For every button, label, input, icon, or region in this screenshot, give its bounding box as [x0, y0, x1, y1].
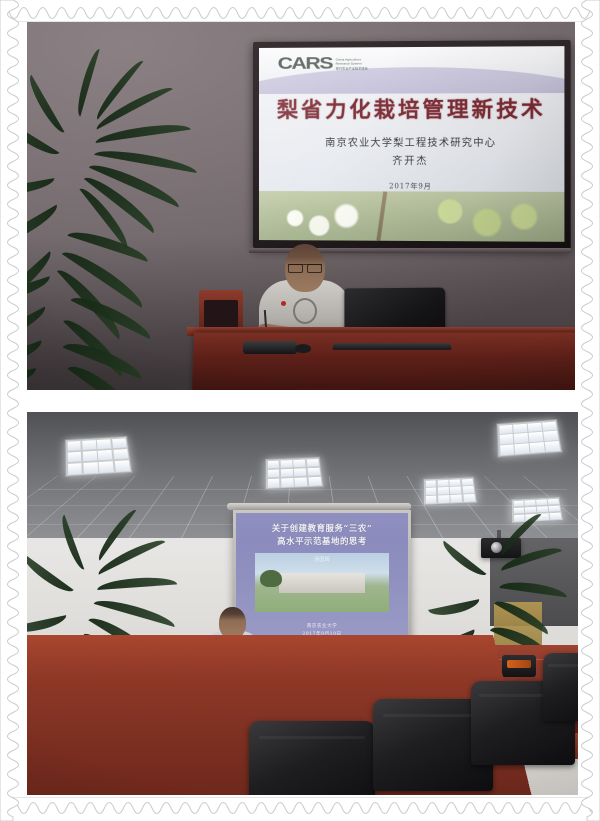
- scalloped-border-top: [0, 0, 600, 22]
- projection-screen-surface: CARS China Agriculture Research System 现…: [259, 46, 564, 242]
- slide-title-line-1: 关于创建教育服务“三农”: [272, 522, 373, 535]
- scalloped-border-right: [576, 0, 600, 821]
- ceiling-light-panel: [496, 419, 562, 458]
- cars-logo-line-3: 现代农业产业技术体系: [336, 66, 368, 71]
- screen-roller-housing: [227, 503, 411, 510]
- photo-card-conference-room[interactable]: 关于创建教育服务“三农” 高水平示范基地的思考 汤国辉 南京农业大学 2017年…: [27, 412, 578, 795]
- cars-logo: CARS China Agriculture Research System 现…: [283, 54, 368, 75]
- badge-pin: [281, 301, 286, 306]
- photo-1-scene: CARS China Agriculture Research System 现…: [27, 22, 575, 390]
- scalloped-border-bottom: [0, 797, 600, 821]
- slide-author: 齐开杰: [259, 152, 564, 167]
- slide-title: 梨省力化栽培管理新技术: [259, 97, 564, 122]
- ceiling-light-panel: [265, 457, 324, 490]
- slide-pear-cultivation: CARS China Agriculture Research System 现…: [259, 46, 564, 242]
- ceiling-light-panel: [423, 477, 478, 506]
- scalloped-border-left: [0, 0, 24, 821]
- leather-chair: [249, 721, 375, 795]
- eyeglasses-icon: [288, 264, 322, 272]
- ceiling-light-panel: [511, 496, 564, 523]
- cars-logo-text: China Agriculture Research System 现代农业产业…: [336, 57, 368, 71]
- slide-header-band: CARS China Agriculture Research System 现…: [259, 46, 564, 94]
- microphone-base: [243, 341, 297, 354]
- camera-equipment: [502, 655, 536, 677]
- photo-2-scene: 关于创建教育服务“三农” 高水平示范基地的思考 汤国辉 南京农业大学 2017年…: [27, 412, 578, 795]
- photo-card-lecture-speaker[interactable]: CARS China Agriculture Research System 现…: [27, 22, 575, 390]
- slide-education-service: 关于创建教育服务“三农” 高水平示范基地的思考 汤国辉 南京农业大学 2017年…: [236, 513, 408, 641]
- slide-title-line-2: 高水平示范基地的思考: [272, 535, 373, 548]
- laptop-keyboard: [332, 343, 451, 350]
- computer-mouse: [295, 344, 311, 353]
- potted-palm-plant: [27, 100, 207, 390]
- projection-screen: CARS China Agriculture Research System 现…: [253, 40, 571, 250]
- slide-subtitle: 南京农业大学梨工程技术研究中心: [259, 135, 564, 152]
- slide-presenter-name: 汤国辉: [255, 556, 389, 563]
- slide-pear-image: [259, 191, 564, 242]
- ceiling-light-panel: [65, 436, 133, 477]
- slide-campus-image: 汤国辉: [255, 553, 389, 612]
- leather-chair: [543, 653, 578, 721]
- photo-collage-page: CARS China Agriculture Research System 现…: [0, 0, 600, 821]
- cars-logo-mark: CARS: [278, 54, 332, 74]
- slide-org: 南京农业大学: [302, 623, 341, 631]
- lanyard: [293, 298, 317, 324]
- slide-title: 关于创建教育服务“三农” 高水平示范基地的思考: [272, 522, 373, 548]
